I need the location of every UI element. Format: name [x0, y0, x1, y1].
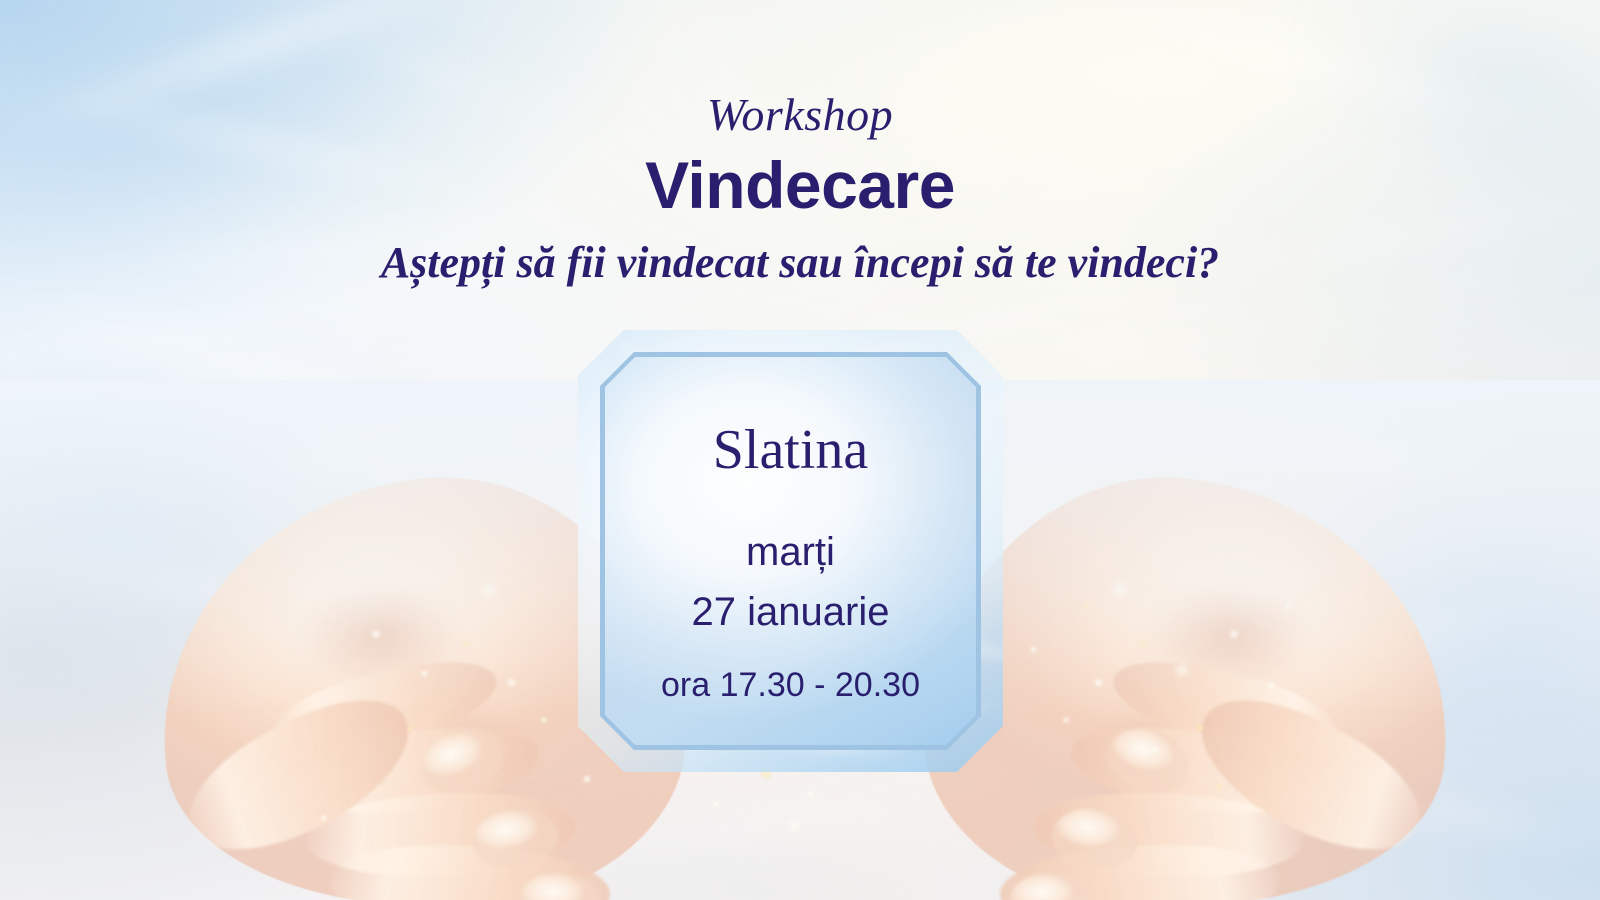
event-weekday: marți: [746, 532, 835, 572]
event-city: Slatina: [713, 422, 869, 478]
poster-canvas: Workshop Vindecare Aștepți să fii vindec…: [0, 0, 1600, 900]
card-text-block: Slatina marți 27 ianuarie ora 17.30 - 20…: [578, 330, 1003, 772]
event-time: ora 17.30 - 20.30: [661, 668, 920, 702]
poster-subtitle: Aștepți să fii vindecat sau începi să te…: [0, 240, 1600, 286]
page-title: Vindecare: [0, 152, 1600, 218]
kicker-workshop: Workshop: [0, 92, 1600, 138]
event-date: 27 ianuarie: [692, 592, 890, 632]
event-details-card: Slatina marți 27 ianuarie ora 17.30 - 20…: [578, 330, 1003, 772]
headline-block: Workshop Vindecare Aștepți să fii vindec…: [0, 92, 1600, 286]
